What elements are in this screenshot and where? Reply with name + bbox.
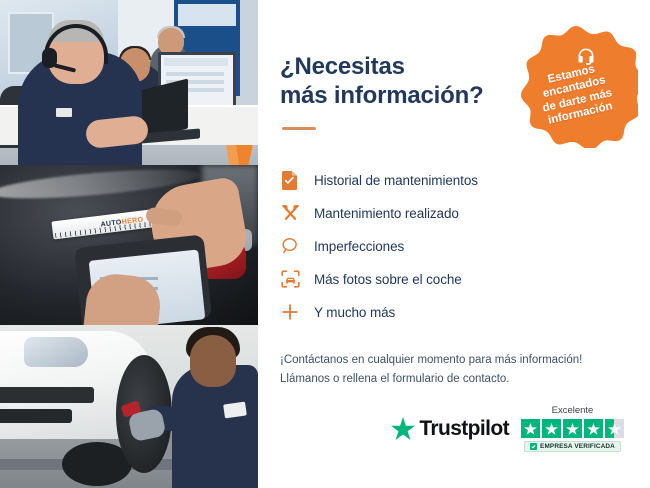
contact-line1: ¡Contáctanos en cualquier momento para m… (280, 351, 620, 371)
feature-label: Mantenimiento realizado (314, 206, 459, 221)
star-partial-5 (605, 419, 624, 438)
star-filled-4 (584, 419, 603, 438)
plus-icon (280, 302, 300, 322)
feature-item-much-more: Y mucho más (280, 296, 626, 329)
page-title-line2: más información? (280, 82, 484, 109)
trustpilot-rating: Excelente (521, 405, 624, 452)
star-filled-3 (563, 419, 582, 438)
feature-item-imperfections: Imperfecciones (280, 230, 626, 263)
contact-line2: Llámanos o rellena el formulario de cont… (280, 370, 620, 390)
car-photo-frame-icon (280, 269, 300, 289)
promo-panel: AUTOHERO (0, 0, 650, 488)
feature-item-more-photos: Más fotos sobre el coche (280, 263, 626, 296)
magnifier-icon (280, 236, 300, 256)
document-check-icon (280, 170, 300, 190)
trustpilot-star-icon (391, 417, 415, 440)
feature-label: Y mucho más (314, 305, 395, 320)
page-title-line1: ¿Necesitas (280, 53, 405, 80)
trustpilot-logo: Trustpilot (391, 417, 509, 441)
feature-label: Más fotos sobre el coche (314, 272, 462, 287)
content-panel: ¿Necesitas más información? Estamos enca… (258, 0, 650, 488)
star-filled-1 (521, 419, 540, 438)
feature-label: Historial de mantenimientos (314, 173, 478, 188)
trustpilot-brand-name: Trustpilot (419, 417, 509, 441)
feature-list: Historial de mantenimientos Mantenimient… (280, 164, 626, 329)
photo-call-center-agents (0, 0, 258, 165)
star-filled-2 (542, 419, 561, 438)
feature-item-maintenance-done: Mantenimiento realizado (280, 197, 626, 230)
photo-car-inspection: AUTOHERO (0, 165, 258, 325)
feature-item-maintenance-history: Historial de mantenimientos (280, 164, 626, 197)
photo-mechanic-wheel (0, 325, 258, 488)
photo-column: AUTOHERO (0, 0, 258, 488)
tools-cross-icon (280, 203, 300, 223)
support-badge: Estamos encantados de darte más informac… (514, 24, 638, 148)
verified-company-badge: EMPRESA VERIFICADA (524, 441, 621, 452)
check-icon (530, 443, 537, 450)
feature-label: Imperfecciones (314, 239, 404, 254)
verified-label: EMPRESA VERIFICADA (540, 443, 615, 450)
page-title: ¿Necesitas más información? (280, 52, 510, 111)
contact-text: ¡Contáctanos en cualquier momento para m… (280, 351, 620, 391)
star-rating (521, 419, 624, 438)
title-divider (282, 127, 316, 130)
rating-label: Excelente (552, 405, 594, 416)
trustpilot-widget[interactable]: Trustpilot Excelente (391, 405, 624, 452)
